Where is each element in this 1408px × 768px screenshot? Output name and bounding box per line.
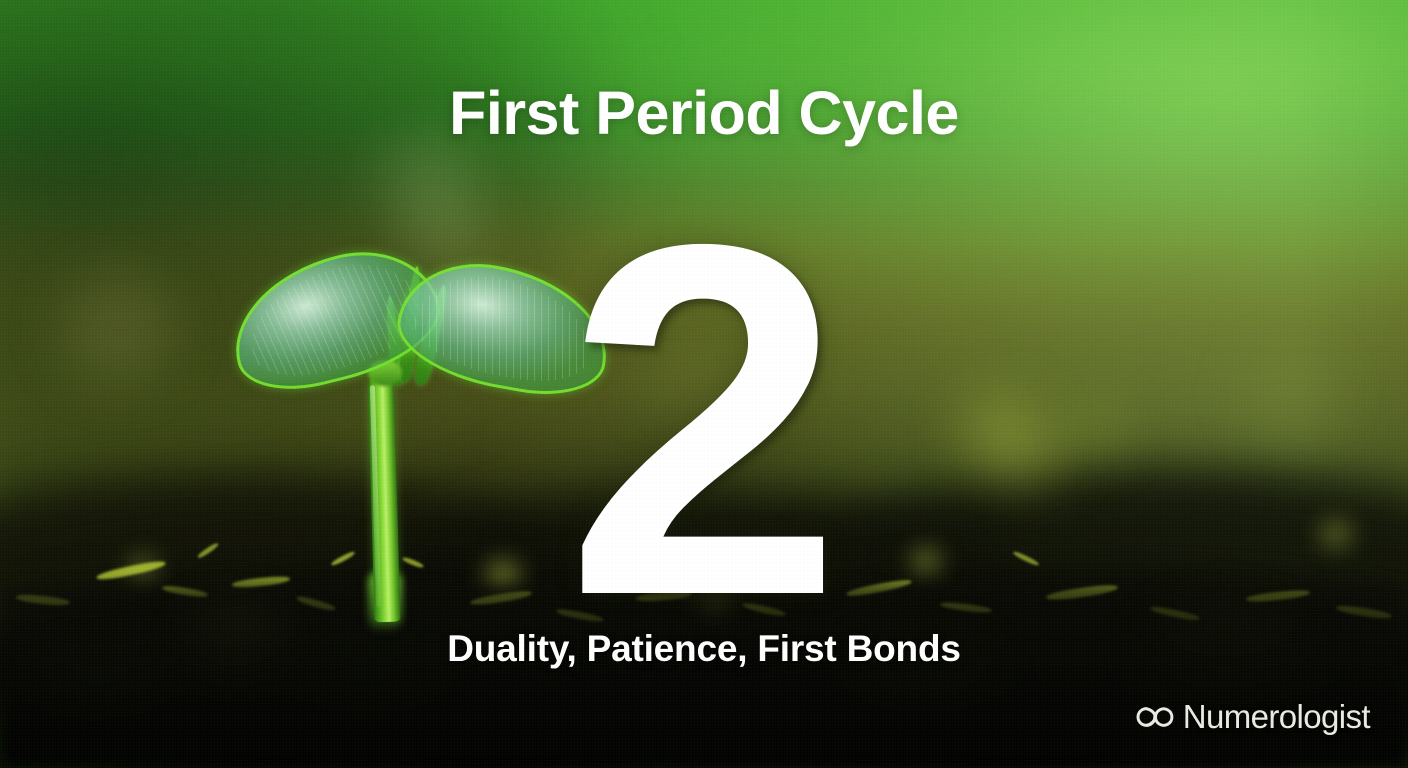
brand-name: Numerologist xyxy=(1183,698,1370,736)
banner-image: 2 First Period Cycle Duality, Patience, … xyxy=(0,0,1408,768)
page-title: First Period Cycle xyxy=(0,78,1408,148)
cycle-number: 2 xyxy=(0,170,1408,670)
brand-logo[interactable]: Numerologist xyxy=(1134,698,1370,736)
banner-subtitle: Duality, Patience, First Bonds xyxy=(0,628,1408,670)
infinity-icon xyxy=(1134,704,1176,730)
